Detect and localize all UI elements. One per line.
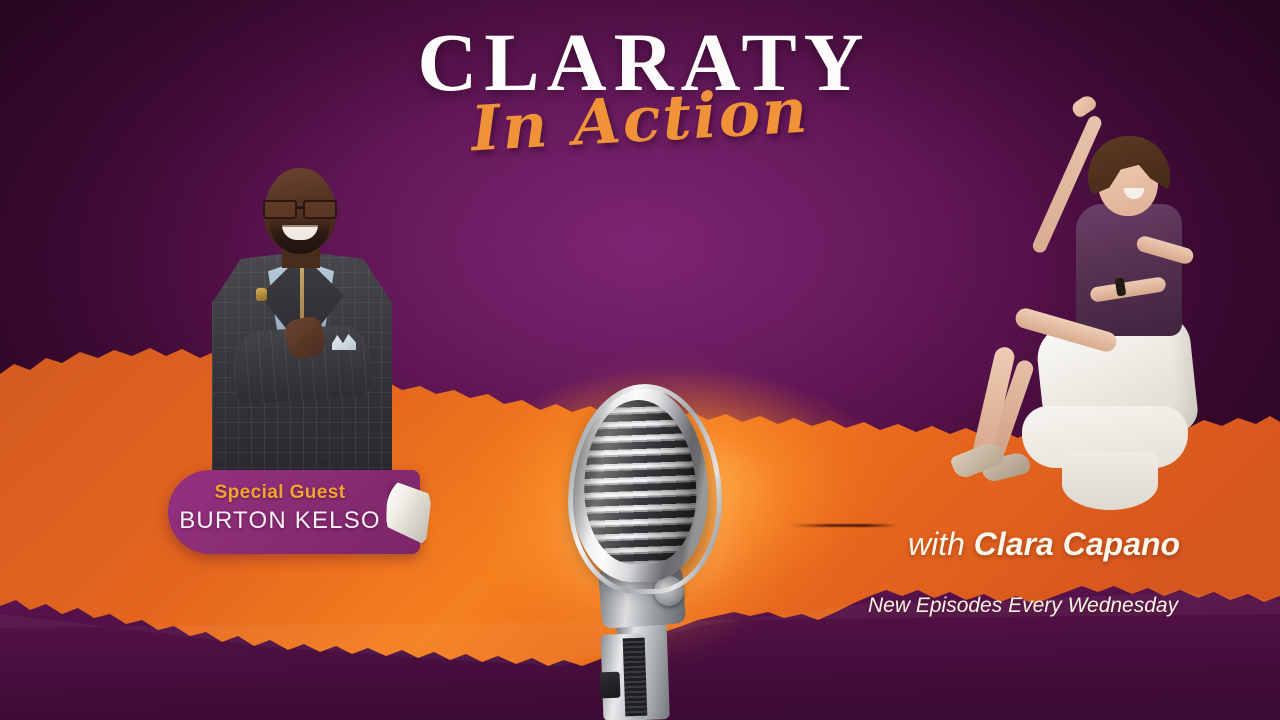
badge-guest-name: BURTON KELSO — [168, 507, 392, 535]
badge-text: Special Guest BURTON KELSO — [168, 482, 392, 535]
host-photo — [930, 96, 1210, 516]
schedule-text: New Episodes Every Wednesday — [868, 594, 1178, 618]
host-credit-prefix: with — [908, 526, 974, 562]
chair-base — [1062, 452, 1158, 510]
badge-kicker: Special Guest — [168, 482, 392, 504]
podcast-cover-art: CLARATY In Action Special Guest BURTON K… — [0, 0, 1280, 720]
title-block: CLARATY In Action — [0, 22, 1280, 156]
microphone-icon — [566, 386, 714, 720]
divider-rule — [790, 524, 898, 527]
special-guest-badge: Special Guest BURTON KELSO — [168, 470, 420, 554]
host-dress — [1076, 204, 1182, 336]
host-name: Clara Capano — [974, 526, 1180, 562]
glasses-icon — [262, 200, 338, 215]
mic-switch-grip — [623, 638, 648, 717]
guest-photo — [212, 168, 392, 498]
guest-lapel-pin — [256, 288, 267, 301]
host-credit: with Clara Capano — [908, 526, 1180, 563]
mic-switch-lever — [600, 672, 621, 699]
